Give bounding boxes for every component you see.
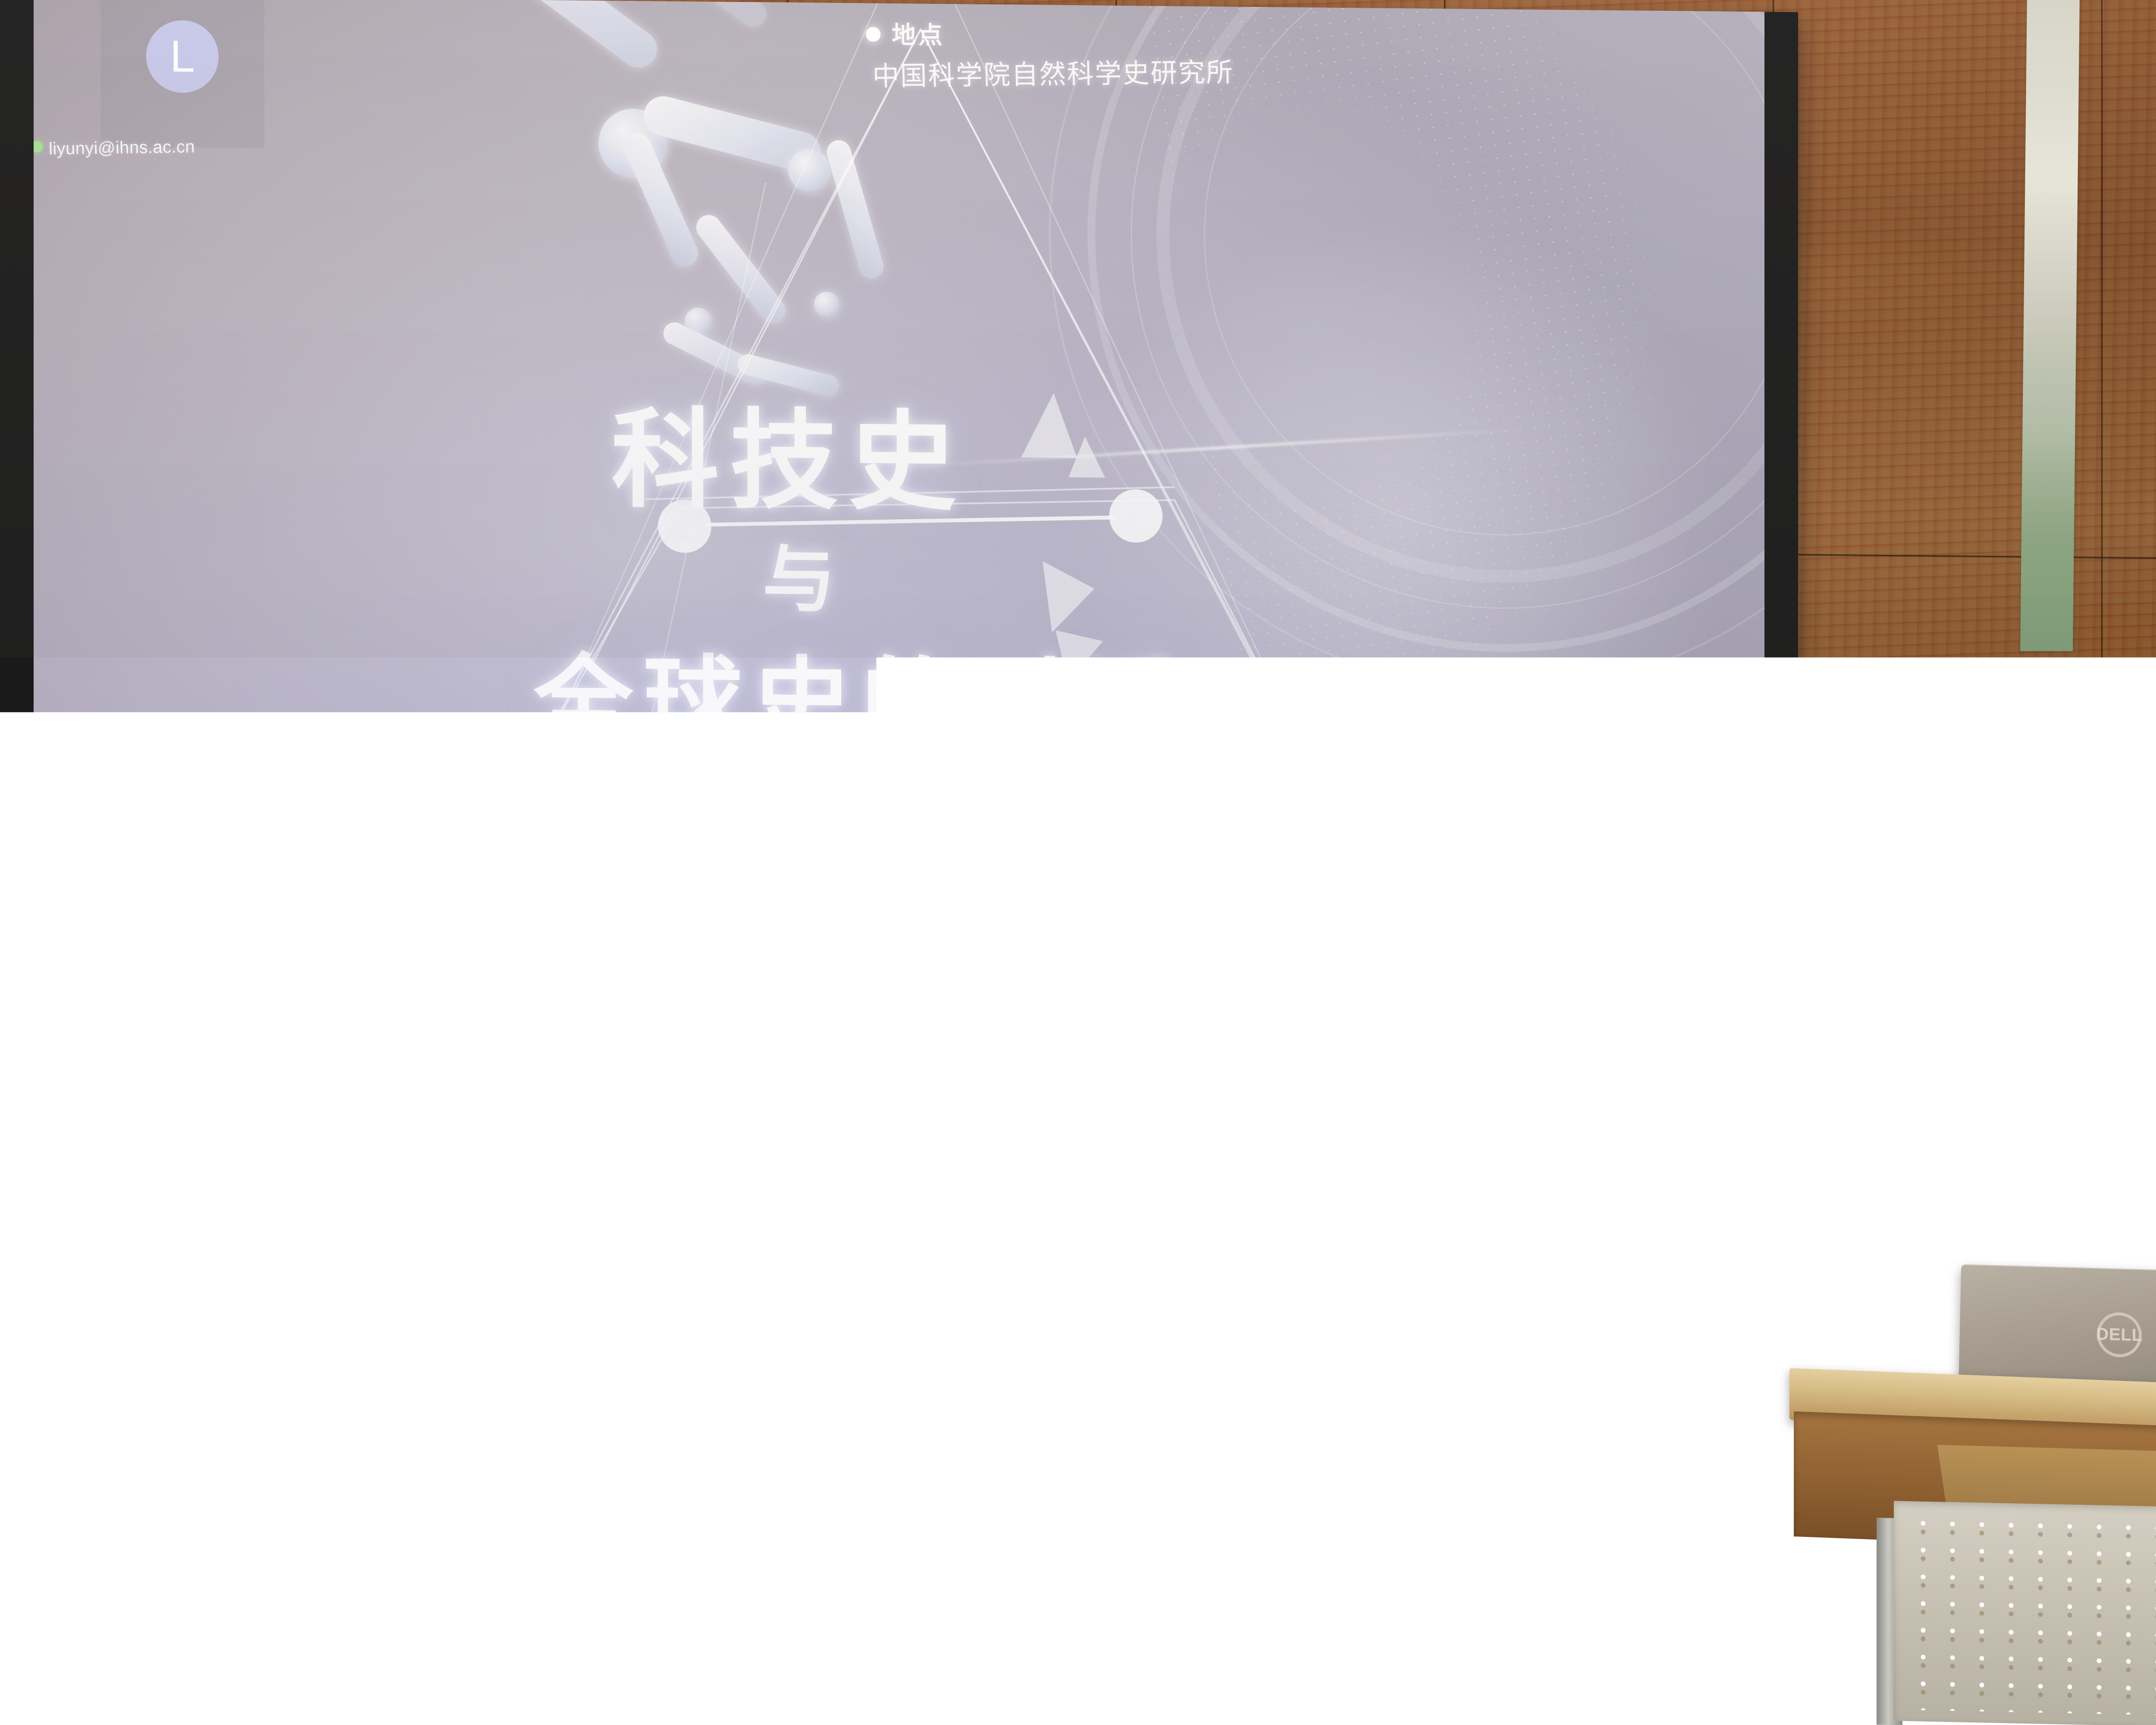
slide-title-line2: 与	[762, 520, 843, 627]
venue-label: 地点	[892, 16, 945, 51]
tote-bag-stripe	[261, 1699, 364, 1725]
perforation-pattern	[1908, 1512, 2156, 1718]
video-call-overlay[interactable]: L	[100, 0, 264, 148]
wall-light-switch[interactable]	[1431, 1604, 1476, 1665]
venue-bullet-icon	[866, 27, 881, 41]
wall-metal-trim-strip	[2020, 0, 2080, 651]
screen-surface: 地点 中国科学院自然科学史研究所 科技史 与 全球史的对话 第二届全球科技史研究…	[34, 0, 1764, 1042]
slide-title-line1: 科技史	[611, 372, 967, 531]
projection-screen: 地点 中国科学院自然科学史研究所 科技史 与 全球史的对话 第二届全球科技史研究…	[0, 0, 1798, 1082]
dell-logo: DELL	[2097, 1312, 2142, 1358]
participant-avatar: L	[146, 20, 219, 94]
glasses-icon	[1991, 953, 2156, 1022]
participant-email: liyunyi@ihns.ac.cn	[49, 137, 195, 159]
slide-title-line3: 全球史的对话	[534, 621, 1188, 771]
switch-toggle[interactable]	[1442, 1619, 1454, 1650]
presentation-slide: 地点 中国科学院自然科学史研究所 科技史 与 全球史的对话 第二届全球科技史研究…	[34, 0, 1764, 1042]
venue-value: 中国科学院自然科学史研究所	[872, 50, 1234, 94]
shirt-button	[2084, 1216, 2099, 1232]
outlet-plug-right	[1294, 1620, 1324, 1644]
outlet-plug-left	[231, 1559, 261, 1583]
scene-root: 地点 中国科学院自然科学史研究所 科技史 与 全球史的对话 第二届全球科技史研究…	[0, 0, 2156, 1725]
screen-border: 地点 中国科学院自然科学史研究所 科技史 与 全球史的对话 第二届全球科技史研究…	[0, 0, 1798, 1099]
switch-label-sticker	[1456, 1616, 1468, 1652]
lectern-perforated-panel	[1894, 1501, 2156, 1725]
wall-baseboard	[0, 1647, 1164, 1678]
